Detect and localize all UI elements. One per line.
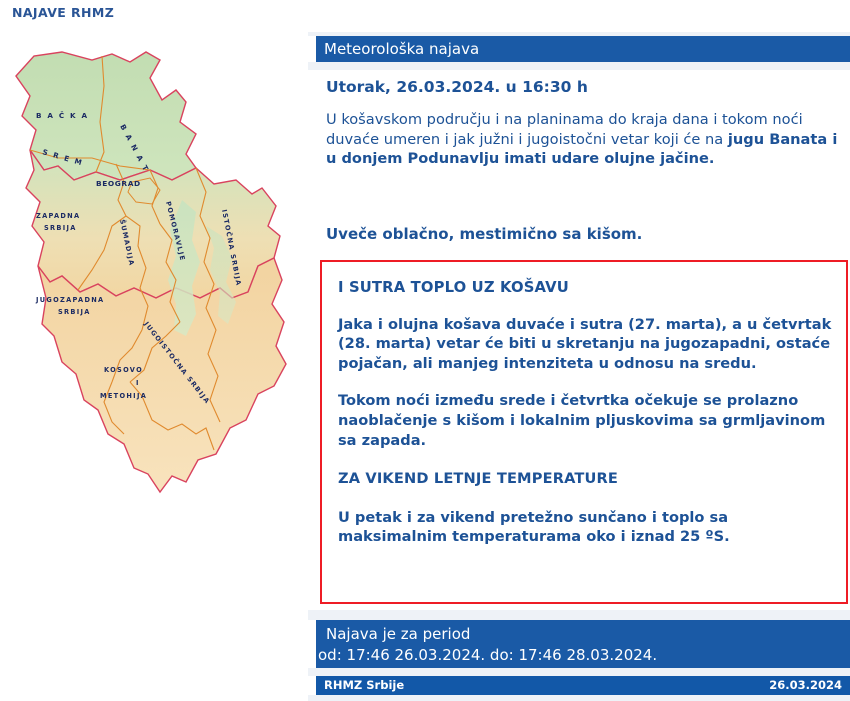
alert-heading-2: ZA VIKEND LETNJE TEMPERATURE (338, 469, 832, 489)
alert-paragraph-3: U petak i za vikend pretežno sunčano i t… (338, 508, 832, 547)
map-panel: B A Č K A B A N A T S R E M BEOGRAD ZAPA… (0, 30, 306, 510)
period-bar: Najava je za period od: 17:46 26.03.2024… (316, 620, 850, 668)
bulletin-header-bar: Meteorološka najava (316, 36, 850, 62)
source-name: RHMZ Srbije (324, 676, 404, 695)
period-label: Najava je za period (318, 624, 850, 645)
header-strip-bottom (308, 62, 850, 70)
map-label-jugozapadna-srbija-line1: JUGOZAPADNA (35, 296, 104, 304)
map-label-kosovo-line3: METOHIJA (100, 392, 147, 400)
period-strip-bottom (308, 668, 850, 676)
map-label-zapadna-srbija-line2: SRBIJA (44, 224, 77, 232)
source-strip-bottom (308, 695, 850, 701)
map-label-zapadna-srbija-line1: ZAPADNA (36, 212, 80, 220)
map-label-kosovo-line2: I (136, 379, 140, 387)
bulletin-intro-paragraph: U košavskom području i na planinama do k… (326, 110, 846, 169)
source-bar: RHMZ Srbije 26.03.2024 (316, 676, 850, 695)
bulletin-header-label: Meteorološka najava (324, 40, 479, 58)
alert-paragraph-2: Tokom noći između srede i četvrtka očeku… (338, 391, 832, 450)
source-date: 26.03.2024 (769, 676, 842, 695)
page-title: NAJAVE RHMZ (12, 5, 114, 20)
alert-heading-1: I SUTRA TOPLO UZ KOŠAVU (338, 278, 832, 298)
map-label-backa: B A Č K A (36, 111, 89, 120)
map-label-kosovo-line1: KOSOVO (104, 366, 143, 374)
alert-box-content: I SUTRA TOPLO UZ KOŠAVU Jaka i olujna ko… (322, 262, 846, 547)
map-label-beograd: BEOGRAD (96, 179, 141, 188)
bulletin-panel: Meteorološka najava Utorak, 26.03.2024. … (308, 32, 850, 691)
bulletin-evening-note: Uveče oblačno, mestimično sa kišom. (326, 225, 642, 243)
bulletin-date-line: Utorak, 26.03.2024. u 16:30 h (326, 78, 588, 96)
period-range: od: 17:46 26.03.2024. do: 17:46 28.03.20… (318, 645, 850, 666)
period-strip-top (308, 610, 850, 620)
alert-paragraph-1: Jaka i olujna košava duvaće i sutra (27.… (338, 315, 832, 374)
alert-box: I SUTRA TOPLO UZ KOŠAVU Jaka i olujna ko… (320, 260, 848, 604)
serbia-map-svg: B A Č K A B A N A T S R E M BEOGRAD ZAPA… (0, 30, 306, 510)
page-root: NAJAVE RHMZ (0, 0, 850, 691)
map-label-jugozapadna-srbija-line2: SRBIJA (58, 308, 91, 316)
